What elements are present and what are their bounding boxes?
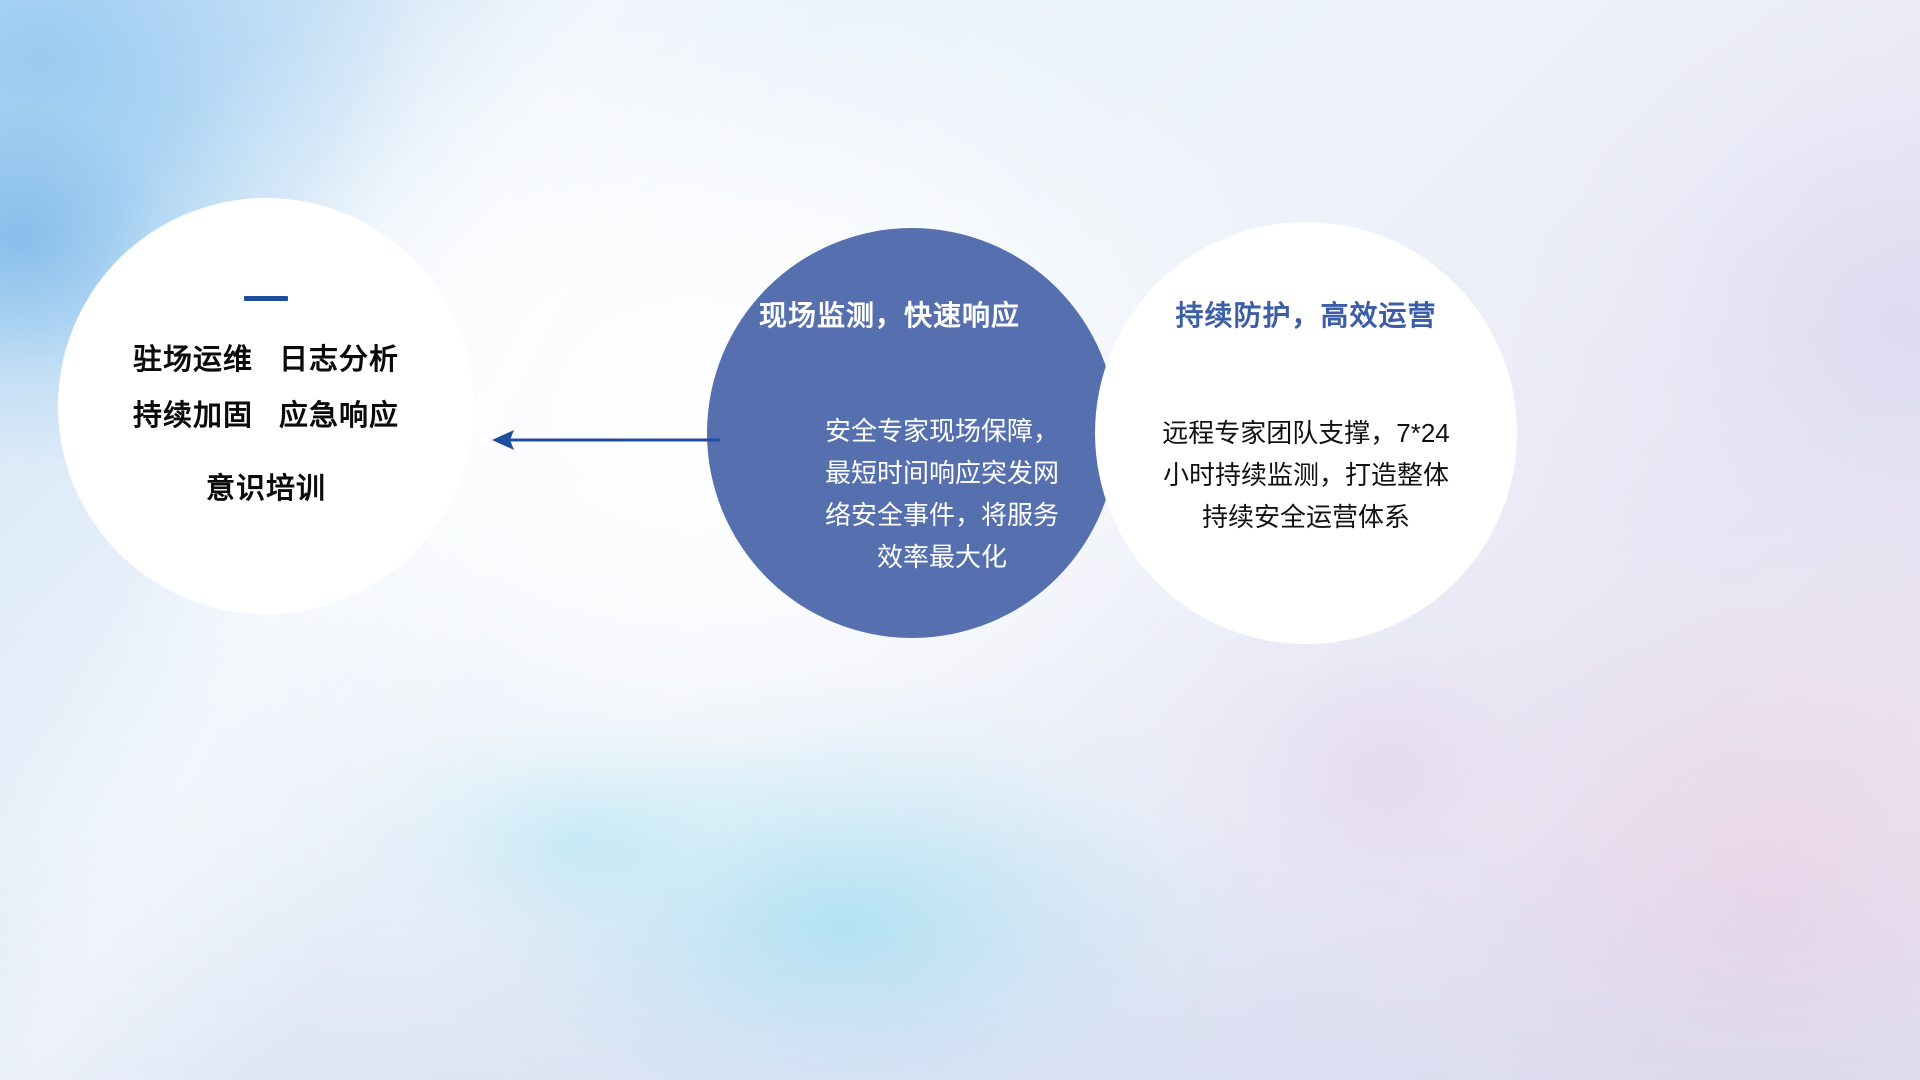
arrow-left-icon xyxy=(488,418,720,462)
flow-arrow xyxy=(488,418,720,462)
left-circle: 驻场运维日志分析 持续加固应急响应 意识培训 xyxy=(58,198,474,614)
heading-divider xyxy=(244,296,288,301)
right-body-line: 远程专家团队支撑，7*24 xyxy=(1119,412,1493,454)
right-circle: 持续防护，高效运营 远程专家团队支撑，7*24 小时持续监测，打造整体 持续安全… xyxy=(1095,222,1517,644)
right-body-line: 小时持续监测，打造整体 xyxy=(1119,454,1493,496)
middle-circle-heading: 现场监测，快速响应 xyxy=(759,294,1179,334)
left-circle-line: 持续加固应急响应 xyxy=(133,401,399,431)
left-circle-line: 驻场运维日志分析 xyxy=(133,345,399,375)
right-body-line: 持续安全运营体系 xyxy=(1119,496,1493,538)
middle-circle-body: 安全专家现场保障， 最短时间响应突发网 络安全事件，将服务 效率最大化 xyxy=(777,410,1107,578)
left-circle-line-last: 意识培训 xyxy=(206,474,326,504)
right-circle-content: 持续防护，高效运营 远程专家团队支撑，7*24 小时持续监测，打造整体 持续安全… xyxy=(1095,222,1517,644)
left-circle-term: 日志分析 xyxy=(279,344,399,376)
slide-canvas: 现场监测，快速响应 安全专家现场保障， 最短时间响应突发网 络安全事件，将服务 … xyxy=(0,0,1920,1080)
middle-body-line: 最短时间响应突发网 xyxy=(777,452,1107,494)
middle-body-line: 络安全事件，将服务 xyxy=(777,494,1107,536)
left-circle-term: 驻场运维 xyxy=(133,344,253,376)
right-circle-body: 远程专家团队支撑，7*24 小时持续监测，打造整体 持续安全运营体系 xyxy=(1119,412,1493,538)
middle-body-line: 安全专家现场保障， xyxy=(777,410,1107,452)
middle-circle-content: 现场监测，快速响应 安全专家现场保障， 最短时间响应突发网 络安全事件，将服务 … xyxy=(707,228,1117,638)
middle-body-line: 效率最大化 xyxy=(777,536,1107,578)
left-circle-content: 驻场运维日志分析 持续加固应急响应 意识培训 xyxy=(58,198,474,614)
left-circle-term: 应急响应 xyxy=(279,400,399,432)
left-circle-term: 持续加固 xyxy=(133,400,253,432)
